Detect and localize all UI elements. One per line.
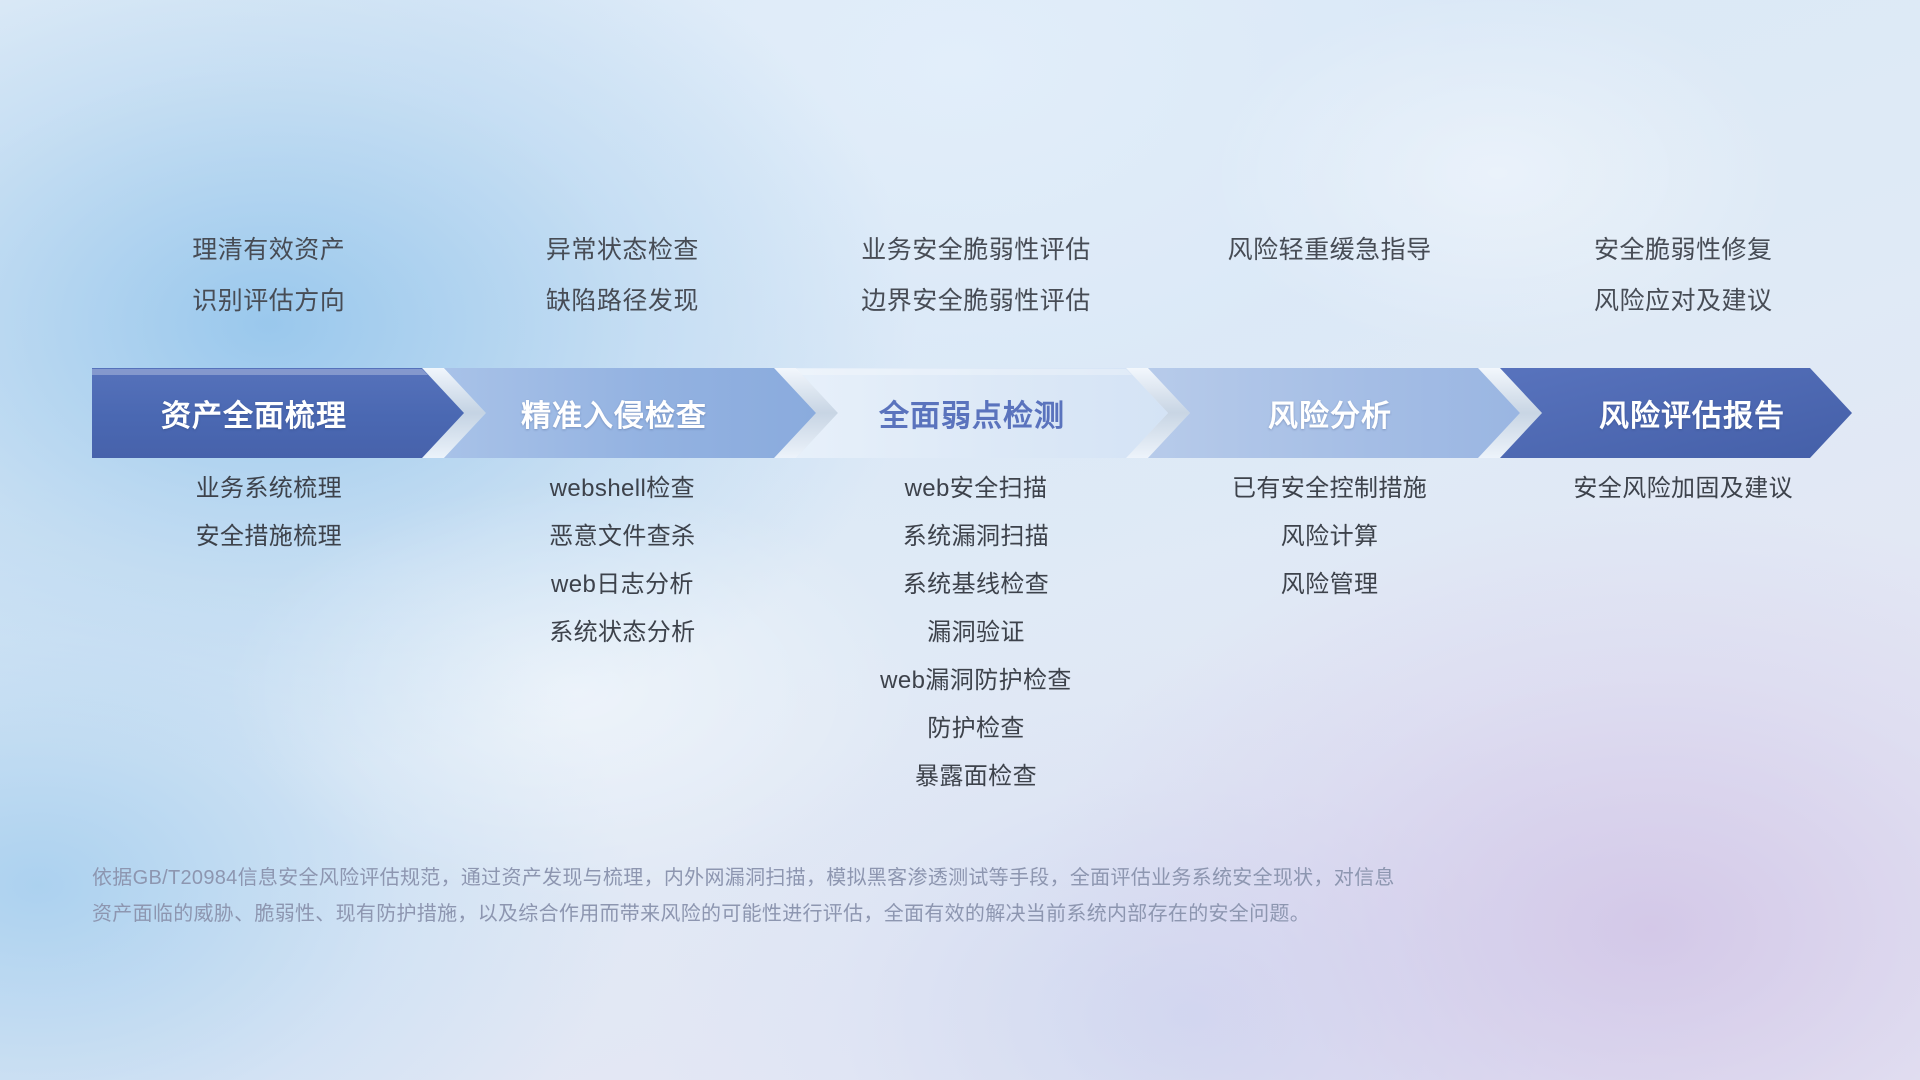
chevron-segment-intrusion-check bbox=[444, 368, 816, 458]
stage-activities-weakness-detection: web安全扫描 系统漏洞扫描 系统基线检查 漏洞验证 web漏洞防护检查 防护检… bbox=[799, 465, 1153, 801]
activity-text: 暴露面检查 bbox=[799, 753, 1153, 801]
activity-text: 安全措施梳理 bbox=[92, 513, 446, 561]
chevron-segment-risk-report bbox=[1500, 368, 1852, 458]
process-diagram: 理清有效资产 识别评估方向 异常状态检查 缺陷路径发现 业务安全脆弱性评估 边界… bbox=[0, 0, 1920, 1080]
stage-activities-row: 业务系统梳理 安全措施梳理 webshell检查 恶意文件查杀 web日志分析 … bbox=[92, 465, 1860, 801]
stage-activities-risk-report: 安全风险加固及建议 bbox=[1506, 465, 1860, 513]
activity-text: 系统基线检查 bbox=[799, 561, 1153, 609]
chevron-segment-asset-inventory bbox=[92, 368, 464, 458]
stage-outcomes-row: 理清有效资产 识别评估方向 异常状态检查 缺陷路径发现 业务安全脆弱性评估 边界… bbox=[92, 225, 1860, 327]
footer-line-1: 依据GB/T20984信息安全风险评估规范，通过资产发现与梳理，内外网漏洞扫描，… bbox=[92, 860, 1592, 896]
chevron-segment-risk-analysis bbox=[1148, 368, 1520, 458]
activity-text: 恶意文件查杀 bbox=[446, 513, 800, 561]
outcome-text: 缺陷路径发现 bbox=[446, 276, 800, 327]
outcome-text: 异常状态检查 bbox=[446, 225, 800, 276]
outcome-text: 风险应对及建议 bbox=[1506, 276, 1860, 327]
activity-text: 安全风险加固及建议 bbox=[1506, 465, 1860, 513]
outcome-text: 边界安全脆弱性评估 bbox=[799, 276, 1153, 327]
activity-text: 风险管理 bbox=[1153, 561, 1507, 609]
outcome-text: 识别评估方向 bbox=[92, 276, 446, 327]
activity-text: web漏洞防护检查 bbox=[799, 657, 1153, 705]
stage-activities-risk-analysis: 已有安全控制措施 风险计算 风险管理 bbox=[1153, 465, 1507, 609]
outcome-text: 理清有效资产 bbox=[92, 225, 446, 276]
stage-outcomes-intrusion-check: 异常状态检查 缺陷路径发现 bbox=[446, 225, 800, 327]
stage-activities-asset-inventory: 业务系统梳理 安全措施梳理 bbox=[92, 465, 446, 561]
stage-outcomes-asset-inventory: 理清有效资产 识别评估方向 bbox=[92, 225, 446, 327]
outcome-text: 安全脆弱性修复 bbox=[1506, 225, 1860, 276]
stage-outcomes-risk-analysis: 风险轻重缓急指导 bbox=[1153, 225, 1507, 327]
stage-outcomes-risk-report: 安全脆弱性修复 风险应对及建议 bbox=[1506, 225, 1860, 327]
activity-text: webshell检查 bbox=[446, 465, 800, 513]
activity-text: 漏洞验证 bbox=[799, 609, 1153, 657]
activity-text: web日志分析 bbox=[446, 561, 800, 609]
process-chevron-band bbox=[92, 368, 1852, 458]
footer-note: 依据GB/T20984信息安全风险评估规范，通过资产发现与梳理，内外网漏洞扫描，… bbox=[92, 860, 1592, 932]
outcome-text: 风险轻重缓急指导 bbox=[1153, 225, 1507, 276]
activity-text: 业务系统梳理 bbox=[92, 465, 446, 513]
activity-text: 防护检查 bbox=[799, 705, 1153, 753]
chevron-segment-weakness-detection bbox=[796, 368, 1168, 458]
footer-line-2: 资产面临的威胁、脆弱性、现有防护措施，以及综合作用而带来风险的可能性进行评估，全… bbox=[92, 896, 1592, 932]
stage-activities-intrusion-check: webshell检查 恶意文件查杀 web日志分析 系统状态分析 bbox=[446, 465, 800, 657]
activity-text: 系统漏洞扫描 bbox=[799, 513, 1153, 561]
activity-text: 已有安全控制措施 bbox=[1153, 465, 1507, 513]
activity-text: 风险计算 bbox=[1153, 513, 1507, 561]
activity-text: 系统状态分析 bbox=[446, 609, 800, 657]
outcome-text: 业务安全脆弱性评估 bbox=[799, 225, 1153, 276]
stage-outcomes-weakness-detection: 业务安全脆弱性评估 边界安全脆弱性评估 bbox=[799, 225, 1153, 327]
activity-text: web安全扫描 bbox=[799, 465, 1153, 513]
